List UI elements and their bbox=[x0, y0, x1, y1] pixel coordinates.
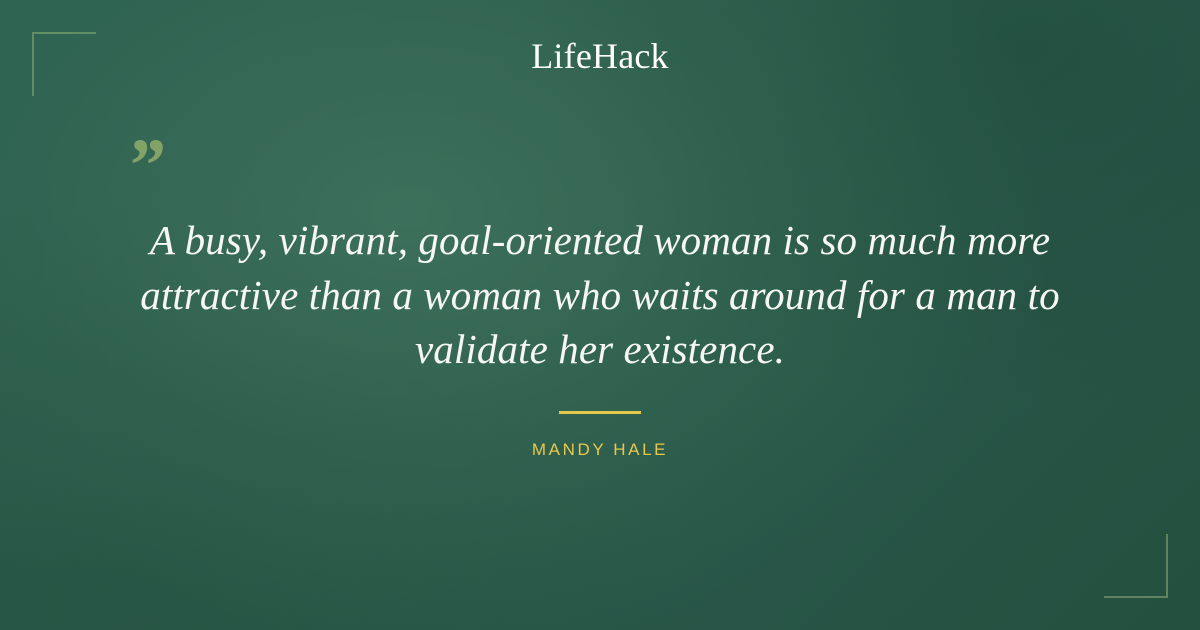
quote-text: A busy, vibrant, goal-oriented woman is … bbox=[100, 213, 1100, 377]
brand-logo: LifeHack bbox=[0, 38, 1200, 74]
attribution: MANDY HALE bbox=[0, 440, 1200, 460]
quote-author: MANDY HALE bbox=[532, 440, 668, 460]
quote-card: LifeHack ” A busy, vibrant, goal-oriente… bbox=[0, 0, 1200, 630]
quote-block: A busy, vibrant, goal-oriented woman is … bbox=[100, 213, 1100, 377]
brand-name: LifeHack bbox=[531, 38, 669, 74]
corner-bracket-bottom-right-icon bbox=[1104, 534, 1168, 598]
attribution-divider bbox=[559, 411, 641, 414]
quotation-mark-icon: ” bbox=[126, 128, 164, 204]
